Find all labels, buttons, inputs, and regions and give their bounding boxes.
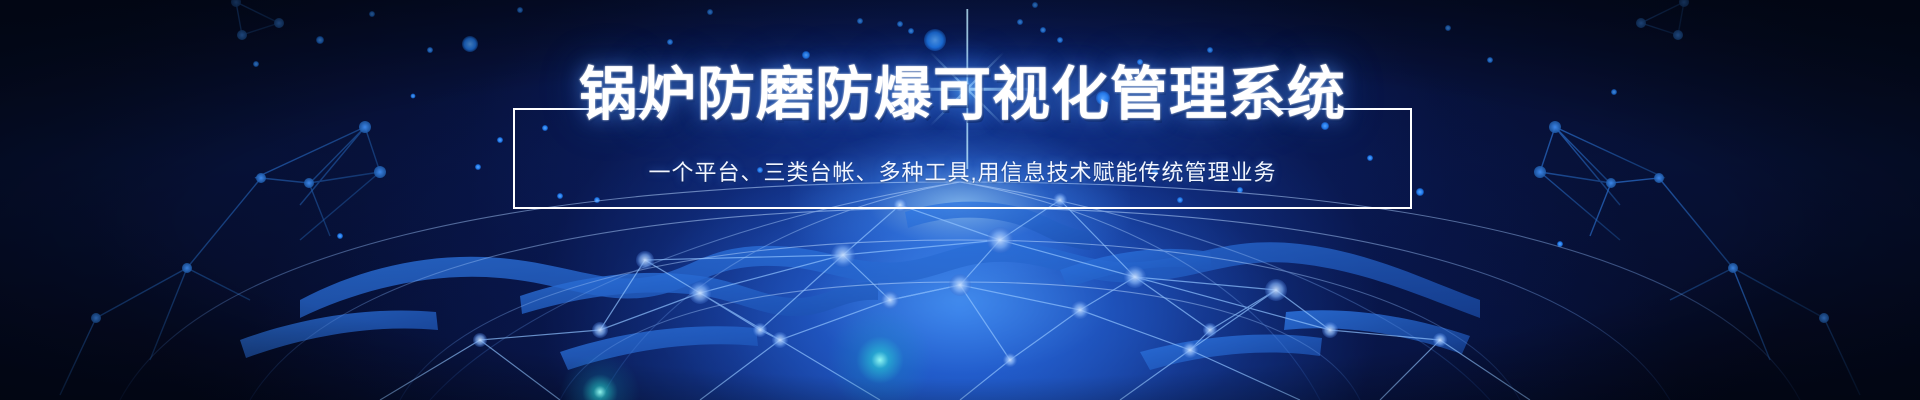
teal-accent-glow bbox=[820, 300, 940, 400]
banner-subtitle: 一个平台、三类台帐、多种工具,用信息技术赋能传统管理业务 bbox=[513, 162, 1412, 184]
teal-accent-glow-2 bbox=[555, 347, 645, 400]
title-frame: 锅炉防磨防爆可视化管理系统 一个平台、三类台帐、多种工具,用信息技术赋能传统管理… bbox=[513, 108, 1412, 209]
constellation-left bbox=[60, 2, 380, 395]
constellation-right-nodes bbox=[1534, 0, 1829, 323]
constellation-left-nodes bbox=[91, 0, 386, 323]
hero-banner: 锅炉防磨防爆可视化管理系统 一个平台、三类台帐、多种工具,用信息技术赋能传统管理… bbox=[0, 0, 1920, 400]
banner-title: 锅炉防磨防爆可视化管理系统 bbox=[513, 66, 1412, 124]
frame-line-bottom bbox=[513, 207, 1412, 209]
constellation-right bbox=[1540, 2, 1860, 395]
